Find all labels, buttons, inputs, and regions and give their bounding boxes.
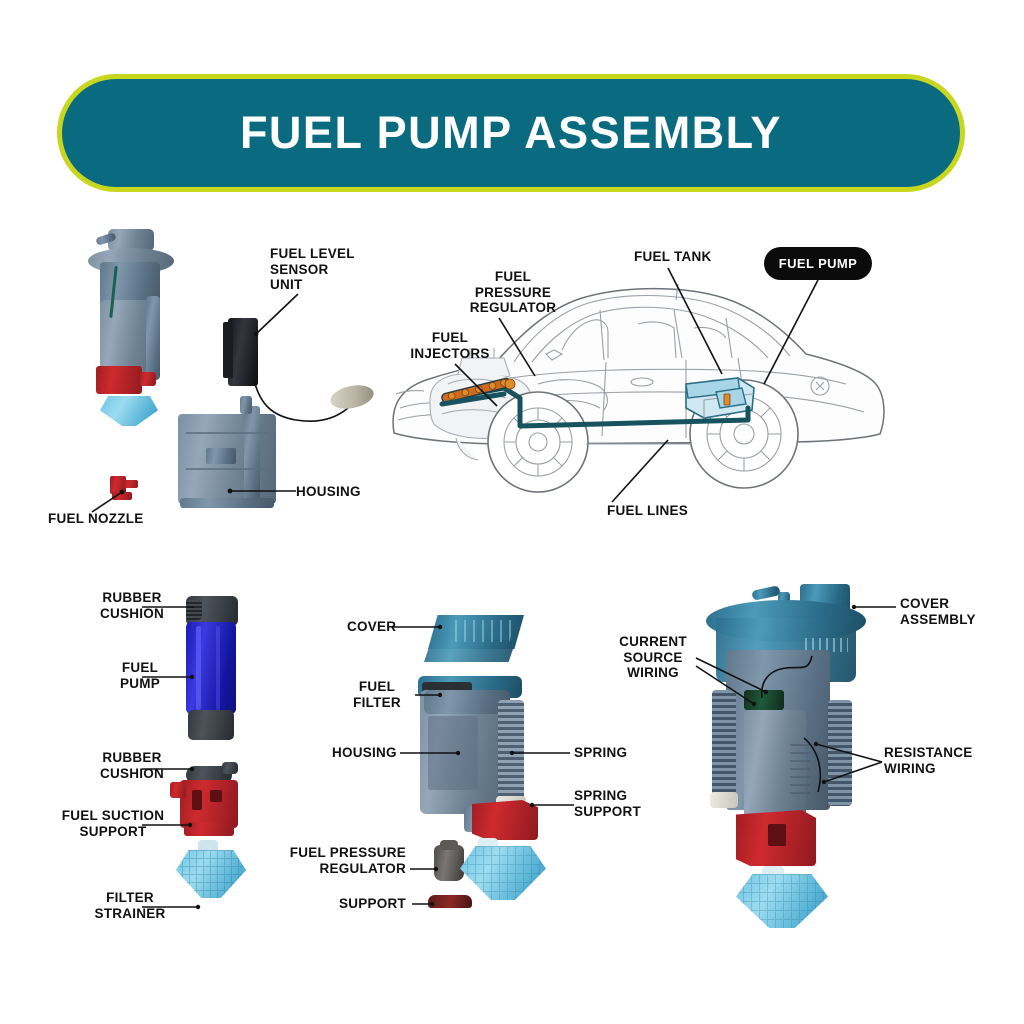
housing-center-detail [206,448,236,464]
pump-module-connector [96,366,142,394]
housing-right-column [244,406,260,506]
fuel-float [328,382,376,413]
label-support: SUPPORT [300,896,406,912]
leader-cover-assembly [852,606,898,612]
fuel-pump-blue-body [186,622,236,714]
fuel-nozzle-spout [124,480,138,488]
label-rubber-cushion-upper: RUBBER CUSHION [84,590,180,621]
label-fuel-filter: FUEL FILTER [340,679,414,710]
label-rubber-cushion-lower: RUBBER CUSHION [84,750,180,781]
housing-base [180,498,274,508]
filter-strainer-mesh [176,850,246,898]
housing-bottom-middle-panel [428,716,478,790]
label-cover: COVER [347,619,427,635]
right-strainer-mesh [736,874,828,928]
fuel-pressure-regulator-cap [440,840,458,850]
fuel-pump-lower-cap [188,710,234,740]
right-left-spring [712,690,736,800]
fuel-suction-support-knob [170,782,186,798]
rubber-cushion-upper-ridges [186,600,202,620]
fuel-suction-support-foot [184,822,234,836]
right-right-spring [828,700,852,806]
housing-rib-a [186,432,270,434]
housing-top-neck [240,396,252,414]
support-part [428,895,472,908]
page-root: FUEL PUMP ASSEMBLY [0,0,1024,1024]
pump-module-side-rib [146,296,160,380]
label-fuel-injectors: FUEL INJECTORS [402,330,498,361]
label-filter-strainer: FILTER STRAINER [80,890,180,921]
spring-part [498,700,524,804]
cover-part-lower [424,640,516,662]
fuel-suction-support-body [180,780,238,828]
label-fuel-nozzle: FUEL NOZZLE [48,511,178,527]
cover-ribs [448,620,516,642]
fuel-nozzle-foot [112,492,132,500]
fuel-suction-support-window-2 [210,790,222,802]
label-fuel-pressure-regulator-bottom-middle: FUEL PRESSURE REGULATOR [272,845,406,876]
leader-filter-strainer [186,906,206,912]
label-fuel-pump-bottom-left: FUEL PUMP [100,660,180,691]
label-fuel-suction-support: FUEL SUCTION SUPPORT [46,808,180,839]
strainer-mesh-bottom-middle [460,846,546,900]
label-fuel-level-sensor-unit: FUEL LEVEL SENSOR UNIT [270,246,390,293]
label-housing-bottom-middle: HOUSING [332,745,424,761]
pump-module-connector-tab [140,372,156,386]
housing-rib-b [186,468,270,470]
right-red-support-window [768,824,786,846]
label-fuel-pressure-regulator-car: FUEL PRESSURE REGULATOR [462,269,564,316]
fuel-level-sensor-unit-lip [223,322,233,378]
label-resistance-wiring: RESISTANCE WIRING [884,745,996,776]
label-spring: SPRING [574,745,654,761]
label-cover-assembly: COVER ASSEMBLY [900,596,1010,627]
rubber-cushion-lower-tab [222,762,238,774]
label-fuel-tank: FUEL TANK [634,249,734,265]
label-fuel-lines: FUEL LINES [607,503,707,519]
label-spring-support: SPRING SUPPORT [574,788,664,819]
fuel-pump-body-highlight-2 [216,626,220,710]
right-left-spring-support [710,792,738,808]
red-support-bottom-middle [472,800,538,840]
page-banner: FUEL PUMP ASSEMBLY [57,74,965,192]
pump-module-filter-strainer [100,396,158,426]
label-current-source-wiring: CURRENT SOURCE WIRING [605,634,701,681]
current-source-connector [744,690,784,710]
fuel-pump-badge-label: FUEL PUMP [779,256,857,271]
fuel-pump-badge: FUEL PUMP [764,247,872,280]
right-pump-ribs [790,740,810,800]
fuel-pump-body-highlight [196,626,201,710]
fuel-pressure-regulator-part [434,845,464,881]
fuel-suction-support-window-1 [192,790,202,810]
cover-assembly-nipple [751,585,780,601]
page-title: FUEL PUMP ASSEMBLY [240,107,782,159]
